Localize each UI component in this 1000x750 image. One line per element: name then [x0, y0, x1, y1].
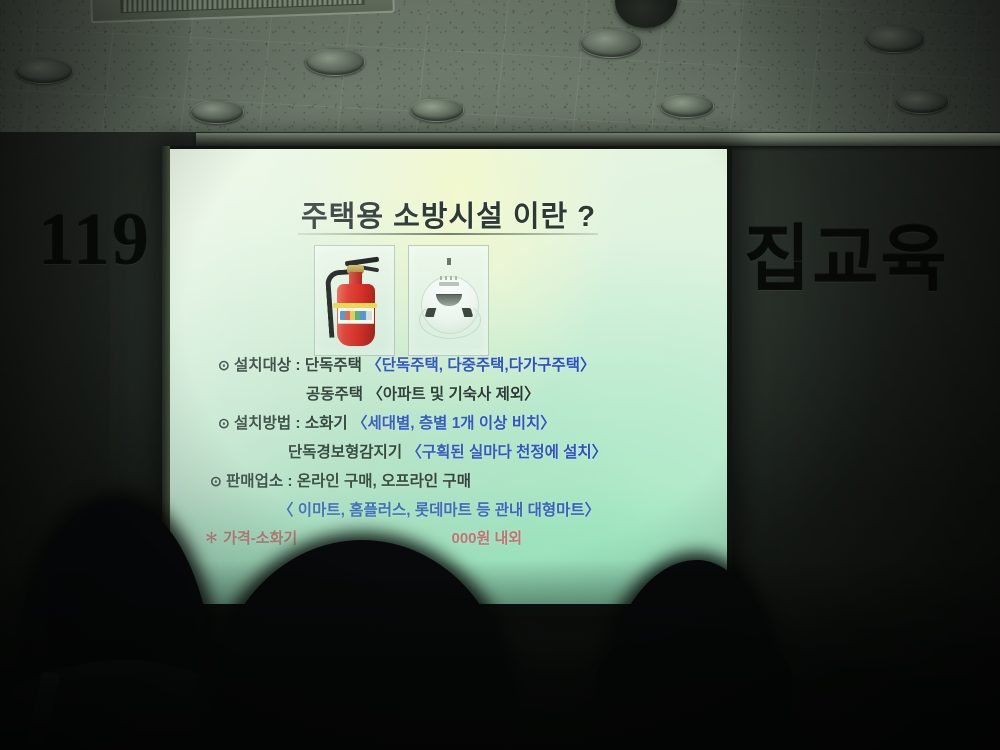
slide-title: 주택용 소방시설 이란 ?	[170, 193, 727, 235]
downlight-3	[580, 28, 642, 58]
slide-line-2: 공동주택 〈아파트 및 기숙사 제외〉	[170, 382, 727, 404]
viewer-right-hair	[596, 630, 792, 750]
slide-line-4: 단독경보형감지기 〈구획된 실마다 천정에 설치〉	[170, 440, 727, 462]
slide-line-1-highlight: 〈단독주택, 다중주택,다가구주택〉	[366, 357, 595, 374]
detector-base-ring	[419, 301, 481, 339]
title-underline	[298, 233, 598, 235]
fire-extinguisher-photo	[314, 245, 395, 356]
detector-print-line	[440, 276, 458, 280]
slide-line-1: ⊙ 설치대상 : 단독주택 〈단독주택, 다중주택,다가구주택〉	[170, 353, 727, 375]
bullet-icon-2: ⊙	[218, 415, 230, 431]
downlight-7	[660, 94, 714, 118]
slide-images	[314, 245, 489, 356]
slide-line-3-text: 설치방법 : 소화기	[234, 415, 348, 432]
extinguisher-label	[338, 307, 374, 324]
downlight-2	[305, 48, 365, 76]
slide-line-1-text: 설치대상 : 단독주택	[234, 357, 362, 374]
slide-line-5-text: 판매업소 : 온라인 구매, 오프라인 구매	[226, 473, 471, 490]
detector-led-icon	[447, 258, 451, 265]
slide-line-5: ⊙ 판매업소 : 온라인 구매, 오프라인 구매	[170, 469, 727, 491]
detector-label-strip	[439, 282, 459, 286]
slide-line-3: ⊙ 설치방법 : 소화기 〈세대별, 층별 1개 이상 비치〉	[170, 411, 727, 433]
bullet-icon-1: ⊙	[218, 357, 230, 373]
slide-line-6: 〈 이마트, 홈플러스, 롯데마트 등 관내 대형마트〉	[170, 498, 727, 520]
projection-screen-valance	[196, 133, 1000, 146]
bullet-icon-3: ⊙	[210, 473, 222, 489]
slide-body: ⊙ 설치대상 : 단독주택 〈단독주택, 다중주택,다가구주택〉 공동주택 〈아…	[170, 353, 727, 555]
smoke-detector-photo	[408, 245, 489, 356]
price-note-prefix: ✽ 가격-소화기	[204, 530, 297, 547]
slide-line-3-highlight: 〈세대별, 층별 1개 이상 비치〉	[352, 415, 556, 432]
slide-line-2-text: 공동주택 〈아파트 및 기숙사 제외〉	[306, 386, 540, 403]
slide-price-note: ✽ 가격-소화기 000원 내외	[170, 527, 727, 548]
ceiling	[0, 0, 1000, 150]
projection-screen: 주택용 소방시설 이란 ?	[166, 146, 732, 616]
slide-line-4-highlight: 〈구획된 실마다 천정에 설치〉	[406, 444, 607, 461]
slide-line-4-text: 단독경보형감지기	[288, 444, 402, 461]
slide-canvas: 주택용 소방시설 이란 ?	[170, 149, 727, 604]
downlight-6	[410, 98, 464, 122]
extinguisher-safety-band	[333, 303, 377, 308]
downlight-5	[190, 100, 244, 124]
slide-line-6-highlight: 〈 이마트, 홈플러스, 롯데마트 등 관내 대형마트〉	[278, 502, 600, 519]
photo-scene: 119 집교육 주택용 소방시설 이란 ?	[0, 0, 1000, 750]
